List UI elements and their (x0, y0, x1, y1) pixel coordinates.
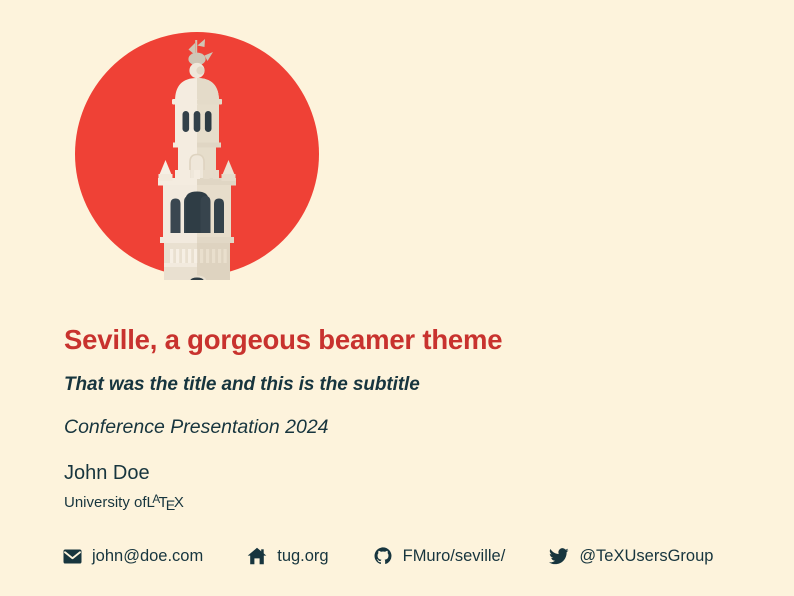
latex-logo: LATEX (147, 495, 184, 512)
author-name: John Doe (64, 462, 764, 484)
envelope-icon (62, 546, 82, 566)
institute-line: University of LATEX (64, 495, 764, 512)
contact-twitter[interactable]: @TeXUsersGroup (549, 546, 713, 566)
contact-website-text: tug.org (277, 548, 328, 565)
giralda-tower-svg (74, 30, 320, 280)
latex-a: A (152, 493, 159, 506)
page-title: Seville, a gorgeous beamer theme (64, 325, 764, 355)
twitter-icon (549, 546, 569, 566)
latex-e: E (166, 498, 175, 514)
github-icon (373, 546, 393, 566)
contact-footer: john@doe.com tug.org FMuro/seville/ (62, 546, 713, 566)
contact-email-text: john@doe.com (92, 548, 203, 565)
contact-website[interactable]: tug.org (247, 546, 328, 566)
title-slide: Seville, a gorgeous beamer theme That wa… (0, 0, 794, 596)
page-subtitle: That was the title and this is the subti… (64, 375, 764, 396)
latex-x: X (174, 494, 183, 511)
contact-github[interactable]: FMuro/seville/ (373, 546, 506, 566)
contact-email[interactable]: john@doe.com (62, 546, 203, 566)
title-text-block: Seville, a gorgeous beamer theme That wa… (64, 325, 764, 511)
home-icon (247, 546, 267, 566)
occasion-text: Conference Presentation 2024 (64, 417, 764, 438)
contact-twitter-text: @TeXUsersGroup (579, 548, 713, 565)
contact-github-text: FMuro/seville/ (403, 548, 506, 565)
institute-prefix: University of (64, 495, 147, 512)
giralda-tower-logo (74, 30, 320, 280)
